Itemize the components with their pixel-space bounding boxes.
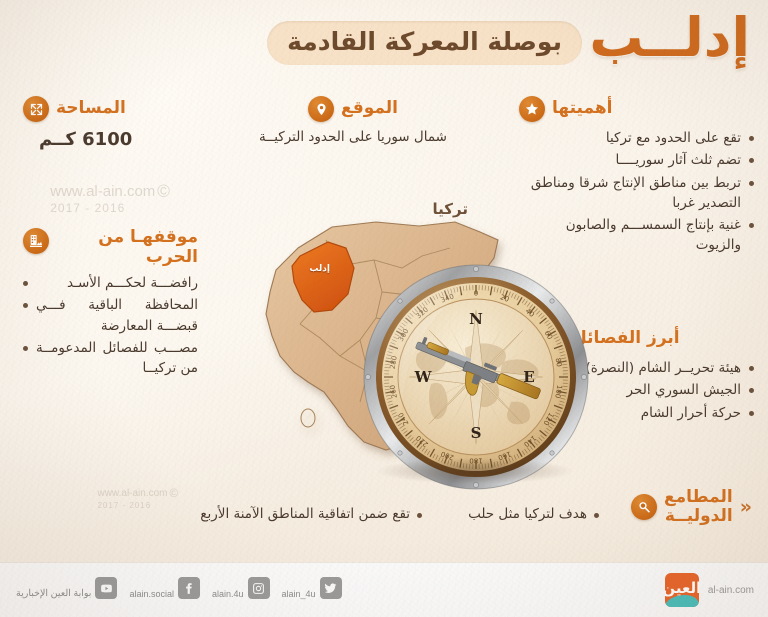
section-international: المطامع الدوليــة « هدف لتركيا مثل حلب ت… (14, 488, 754, 542)
star-icon (519, 96, 545, 122)
area-value: 6100 كــم (23, 129, 203, 150)
list-item: تقع على الحدود مع تركيا (519, 128, 754, 148)
watermark-top: ©www.al-ain.com 2016 - 2017 (50, 182, 170, 216)
section-area-title: المساحة (56, 99, 126, 119)
al-ain-logo[interactable]: العين (665, 573, 699, 607)
social-handle: alain.social (129, 589, 174, 599)
importance-list: تقع على الحدود مع تركيا تضم ثلث آثار سور… (519, 128, 754, 256)
social-links: alain_4u alain.4u alain.social بوابة الع… (16, 577, 342, 599)
expand-arrows-icon (23, 96, 49, 122)
compass-degree-label: 0 (474, 289, 478, 297)
war-stance-list: رافضـــة لحكـــم الأسـد المحافظة الباقية… (23, 273, 198, 378)
section-international-title-line2: الدوليــة (665, 506, 733, 526)
section-importance: أهميتها تقع على الحدود مع تركيا تضم ثلث … (519, 96, 754, 258)
list-item: غنية بإنتاج السمســـم والصابون والزيوت (519, 215, 754, 256)
section-area: المساحة 6100 كــم (23, 96, 203, 150)
section-international-title: المطامع الدوليــة (664, 488, 733, 525)
compass-degree-label: 80 (554, 357, 563, 367)
subtitle-badge: بوصلة المعركة القادمة (267, 21, 582, 65)
page-title: إدلــب (589, 6, 750, 71)
section-location-title: الموقع (341, 99, 398, 119)
list-item: تقع ضمن اتفاقية المناطق الآمنة الأربع (200, 506, 422, 522)
section-importance-header: أهميتها (519, 96, 754, 122)
compass-graphic: 0204060801001201401601802002202402602803… (361, 262, 591, 492)
list-item: رافضـــة لحكـــم الأسـد (23, 273, 198, 293)
section-war-stance: موقفهـا من الحرب رافضـــة لحكـــم الأسـد… (23, 228, 198, 380)
magnifier-icon (631, 494, 657, 520)
social-link-instagram[interactable]: alain.4u (212, 577, 270, 599)
section-location-header: الموقع (258, 96, 448, 122)
list-item: تربط بين مناطق الإنتاج شرقا ومناطق التصد… (519, 173, 754, 214)
subtitle-text: بوصلة المعركة القادمة (287, 27, 562, 56)
social-link-facebook[interactable]: alain.social (129, 577, 200, 599)
twitter-icon[interactable] (320, 577, 342, 599)
section-international-title-line1: المطامع (664, 487, 733, 507)
chevron-left-icon: « (740, 496, 752, 518)
section-location: الموقع شمال سوريا على الحدود التركيــة (258, 96, 448, 147)
list-item: المحافظة الباقية فـــي قبضـــة المعارضة (23, 295, 198, 336)
svg-text:W: W (414, 368, 433, 386)
copyright-icon: © (157, 182, 170, 202)
brand-url[interactable]: al-ain.com (708, 585, 754, 596)
list-item: تضم ثلث آثار سوريــــا (519, 150, 754, 170)
svg-text:S: S (471, 424, 482, 442)
brand-block: al-ain.com العين (665, 573, 754, 607)
youtube-icon[interactable] (95, 577, 117, 599)
section-international-header: المطامع الدوليــة « (631, 488, 754, 525)
location-text: شمال سوريا على الحدود التركيــة (258, 127, 448, 147)
map-label-turkey: تركيا (433, 200, 468, 218)
social-link-youtube[interactable]: بوابة العين الإخبارية (16, 577, 117, 599)
facebook-icon[interactable] (178, 577, 200, 599)
list-item: هدف لتركيا مثل حلب (468, 506, 599, 522)
watermark-url: ©www.al-ain.com (50, 182, 170, 202)
social-link-twitter[interactable]: alain_4u (282, 577, 342, 599)
social-handle: بوابة العين الإخبارية (16, 588, 91, 599)
social-handle: alain.4u (212, 589, 244, 599)
section-war-stance-header: موقفهـا من الحرب (23, 228, 198, 267)
destroyed-building-icon (23, 228, 49, 254)
svg-text:E: E (523, 368, 534, 386)
infographic-page: إدلــب بوصلة المعركة القادمة المساحة 610… (0, 0, 768, 617)
watermark-url-text: www.al-ain.com (50, 183, 155, 200)
map-pin-icon (308, 96, 334, 122)
section-importance-title: أهميتها (552, 99, 613, 119)
instagram-icon[interactable] (248, 577, 270, 599)
map-label-idlib: إدلب (309, 264, 330, 274)
watermark-years: 2016 - 2017 (50, 202, 170, 216)
list-item: مصـــب للفصائل المدعومــة من تركيــا (23, 338, 198, 379)
section-war-stance-title: موقفهـا من الحرب (56, 228, 198, 267)
compass-shadow (375, 458, 575, 484)
footer: alain_4u alain.4u alain.social بوابة الع… (0, 562, 768, 617)
logo-text: العين (665, 573, 699, 607)
section-area-header: المساحة (23, 96, 203, 122)
svg-text:N: N (469, 310, 483, 328)
international-list: هدف لتركيا مثل حلب تقع ضمن اتفاقية المنا… (200, 506, 599, 522)
header: إدلــب بوصلة المعركة القادمة (0, 0, 768, 92)
social-handle: alain_4u (282, 589, 316, 599)
